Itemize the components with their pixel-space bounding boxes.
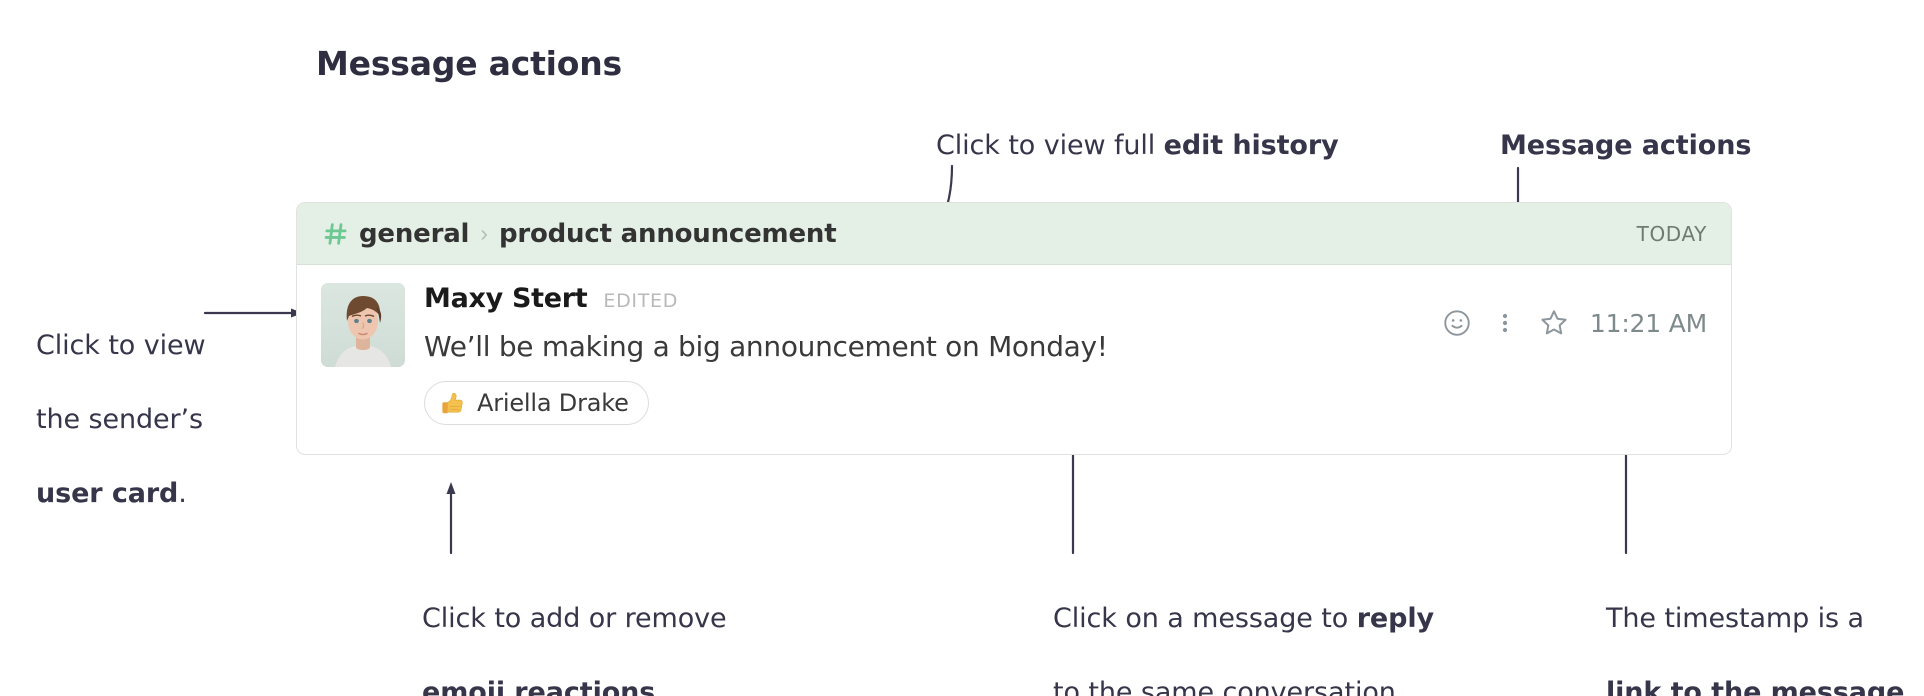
annotation-timestamp-line1: The timestamp is a — [1606, 603, 1864, 634]
sender-name[interactable]: Maxy Stert — [424, 283, 587, 314]
page-title: Message actions — [316, 44, 622, 83]
arrowhead-emoji-reactions — [447, 482, 456, 494]
message-timestamp-link[interactable]: 11:21 AM — [1590, 309, 1707, 338]
breadcrumb-stream[interactable]: general — [359, 219, 469, 249]
day-label: TODAY — [1637, 222, 1707, 246]
star-message-icon[interactable] — [1516, 307, 1570, 339]
annotation-user-card-line1: Click to view — [36, 330, 205, 361]
avatar[interactable] — [321, 283, 405, 367]
conversation-header: general › product announcement TODAY — [297, 203, 1731, 265]
annotation-reply: Click on a message to reply to the same … — [1053, 563, 1483, 696]
annotation-reply-line1-plain: Click on a message to — [1053, 603, 1357, 634]
annotation-user-card-line2: the sender’s — [36, 404, 203, 435]
annotation-reply-line2: to the same conversation. — [1053, 677, 1404, 696]
breadcrumb-separator-icon: › — [480, 220, 488, 247]
message-row[interactable]: Maxy Stert EDITED We’ll be making a big … — [297, 265, 1731, 455]
annotation-actions-menu-line1-bold: Message actions — [1500, 130, 1751, 161]
emoji-reaction-icon[interactable] — [1442, 308, 1472, 338]
breadcrumb-topic[interactable]: product announcement — [499, 219, 836, 249]
thumbs-up-icon — [439, 390, 466, 417]
avatar-image — [321, 283, 405, 367]
message-card: general › product announcement TODAY — [296, 202, 1732, 455]
annotation-emoji-reactions: Click to add or remove emoji reactions. — [422, 563, 782, 696]
emoji-reaction-pill[interactable]: Ariella Drake — [424, 381, 649, 425]
annotation-edit-history-line1-plain: Click to view full — [936, 130, 1164, 161]
annotation-reply-line1-bold: reply — [1357, 603, 1434, 634]
annotation-user-card-line3-tail: . — [178, 478, 186, 509]
annotation-edit-history-line1-bold: edit history — [1164, 130, 1339, 161]
annotation-emoji-reactions-line1: Click to add or remove — [422, 603, 727, 634]
annotation-timestamp-link: The timestamp is a link to the message (… — [1606, 563, 1924, 696]
hash-icon — [323, 221, 349, 247]
annotation-user-card-line3-bold: user card — [36, 478, 178, 509]
edited-badge[interactable]: EDITED — [603, 290, 678, 312]
screenshot-root: Message actions Click to view the — [0, 0, 1924, 696]
annotation-timestamp-line2-bold: link to the message — [1606, 677, 1904, 696]
message-actions-menu-icon[interactable] — [1472, 308, 1516, 338]
annotation-emoji-reactions-line2-bold: emoji reactions — [422, 677, 655, 696]
reaction-user-name: Ariella Drake — [477, 389, 629, 417]
annotation-emoji-reactions-line2-tail: . — [655, 677, 663, 696]
annotation-user-card: Click to view the sender’s user card. — [36, 290, 266, 512]
message-actions: 11:21 AM — [1442, 307, 1707, 339]
